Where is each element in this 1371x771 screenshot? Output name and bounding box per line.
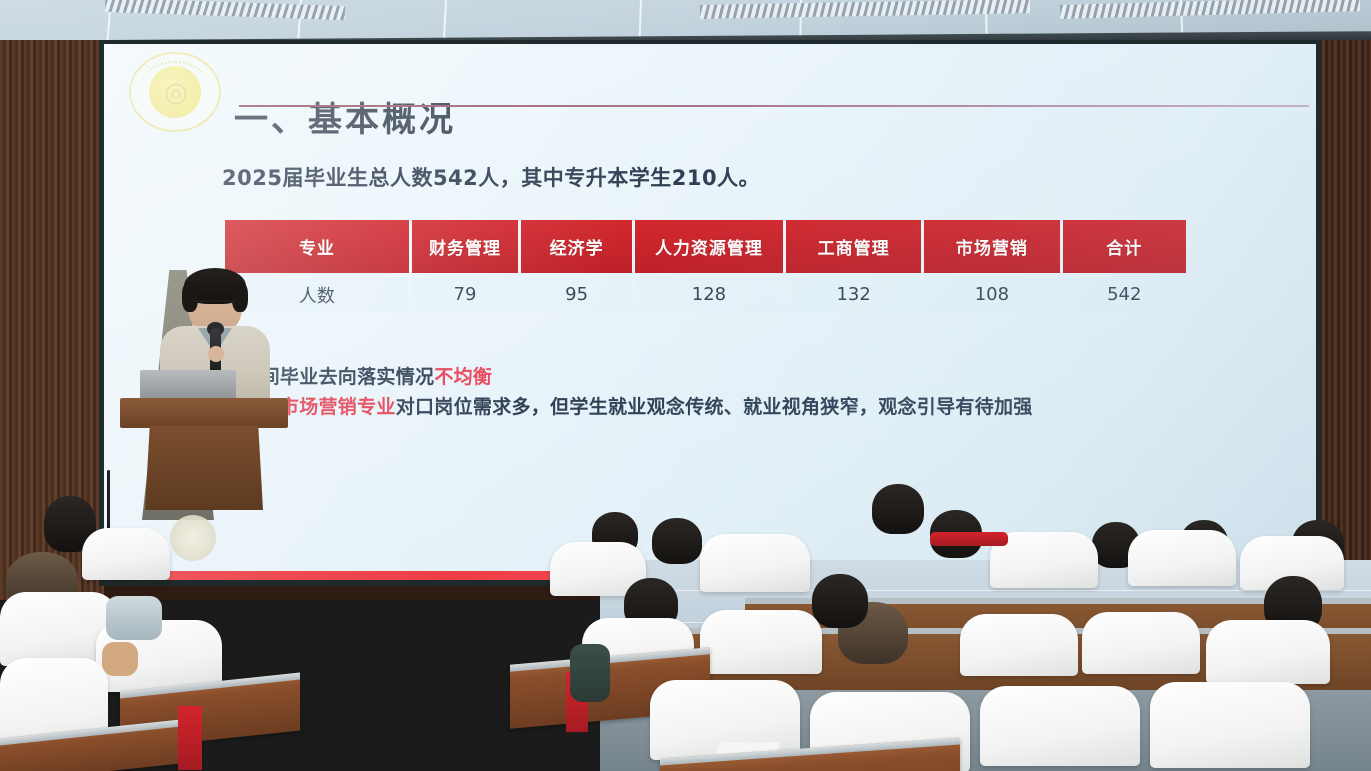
table-header-cell: 市场营销 (924, 220, 1059, 273)
bullet-2-text: 对口岗位需求多，但学生就业观念传统、就业视角狭窄，观念引导有待加强 (396, 396, 1033, 418)
ceiling-vent-grille (105, 0, 345, 20)
table-header-cell: 工商管理 (786, 220, 921, 273)
bullet-line-2: 管理、市场营销专业对口岗位需求多，但学生就业观念传统、就业视角狭窄，观念引导有待… (222, 392, 1282, 422)
table-header-cell: 合计 (1063, 220, 1186, 273)
slide-bullet-list: 专业间毕业去向落实情况不均衡 管理、市场营销专业对口岗位需求多，但学生就业观念传… (222, 362, 1282, 422)
audience-area (0, 470, 1371, 771)
audience-head (652, 518, 702, 564)
ceiling-vent-grille (700, 0, 1030, 19)
audience-chair (82, 528, 170, 580)
title-underline (239, 105, 1309, 107)
audience-arm (570, 644, 610, 702)
table-data-row: 人数 79 95 128 132 108 542 (225, 277, 1186, 312)
table-cell: 132 (786, 277, 921, 312)
audience-chair-red-trim (178, 706, 202, 770)
audience-arm (106, 596, 162, 640)
table-cell: 108 (924, 277, 1059, 312)
audience-chair (1082, 612, 1200, 674)
audience-head (812, 574, 868, 628)
table-cell: 128 (635, 277, 783, 312)
audience-arm (102, 642, 138, 676)
table-cell: 95 (521, 277, 632, 312)
speaker-glasses (194, 300, 236, 308)
audience-chair (700, 534, 810, 592)
audience-chair-red-trim (930, 532, 1008, 546)
slide-lead-text: 2025届毕业生总人数542人，其中专升本学生210人。 (222, 162, 760, 192)
slide-title: 一、基本概况 (234, 92, 456, 141)
table-header-cell: 经济学 (521, 220, 632, 273)
table-header-row: 专业 财务管理 经济学 人力资源管理 工商管理 市场营销 合计 (225, 220, 1186, 273)
lecture-hall-scene: ◎ 一、基本概况 2025届毕业生总人数542人，其中专升本学生210人。 专业… (0, 0, 1371, 771)
university-seal-icon: ◎ (129, 52, 221, 132)
bullet-line-1: 专业间毕业去向落实情况不均衡 (222, 362, 1282, 392)
table-header-cell: 专业 (225, 220, 409, 273)
audience-chair (980, 686, 1140, 766)
table-header-cell: 人力资源管理 (635, 220, 783, 273)
ceiling-vent-grille (1060, 0, 1360, 19)
audience-chair (1128, 530, 1236, 586)
audience-chair (1206, 620, 1330, 684)
table-cell: 542 (1063, 277, 1186, 312)
table-header-cell: 财务管理 (412, 220, 519, 273)
audience-chair (700, 610, 822, 674)
bullet-1-highlight: 不均衡 (434, 366, 492, 388)
table-cell: 79 (412, 277, 519, 312)
audience-chair (960, 614, 1078, 676)
audience-head (872, 484, 924, 534)
audience-chair (1150, 682, 1310, 768)
majors-table: 专业 财务管理 经济学 人力资源管理 工商管理 市场营销 合计 人数 79 95… (225, 220, 1186, 312)
